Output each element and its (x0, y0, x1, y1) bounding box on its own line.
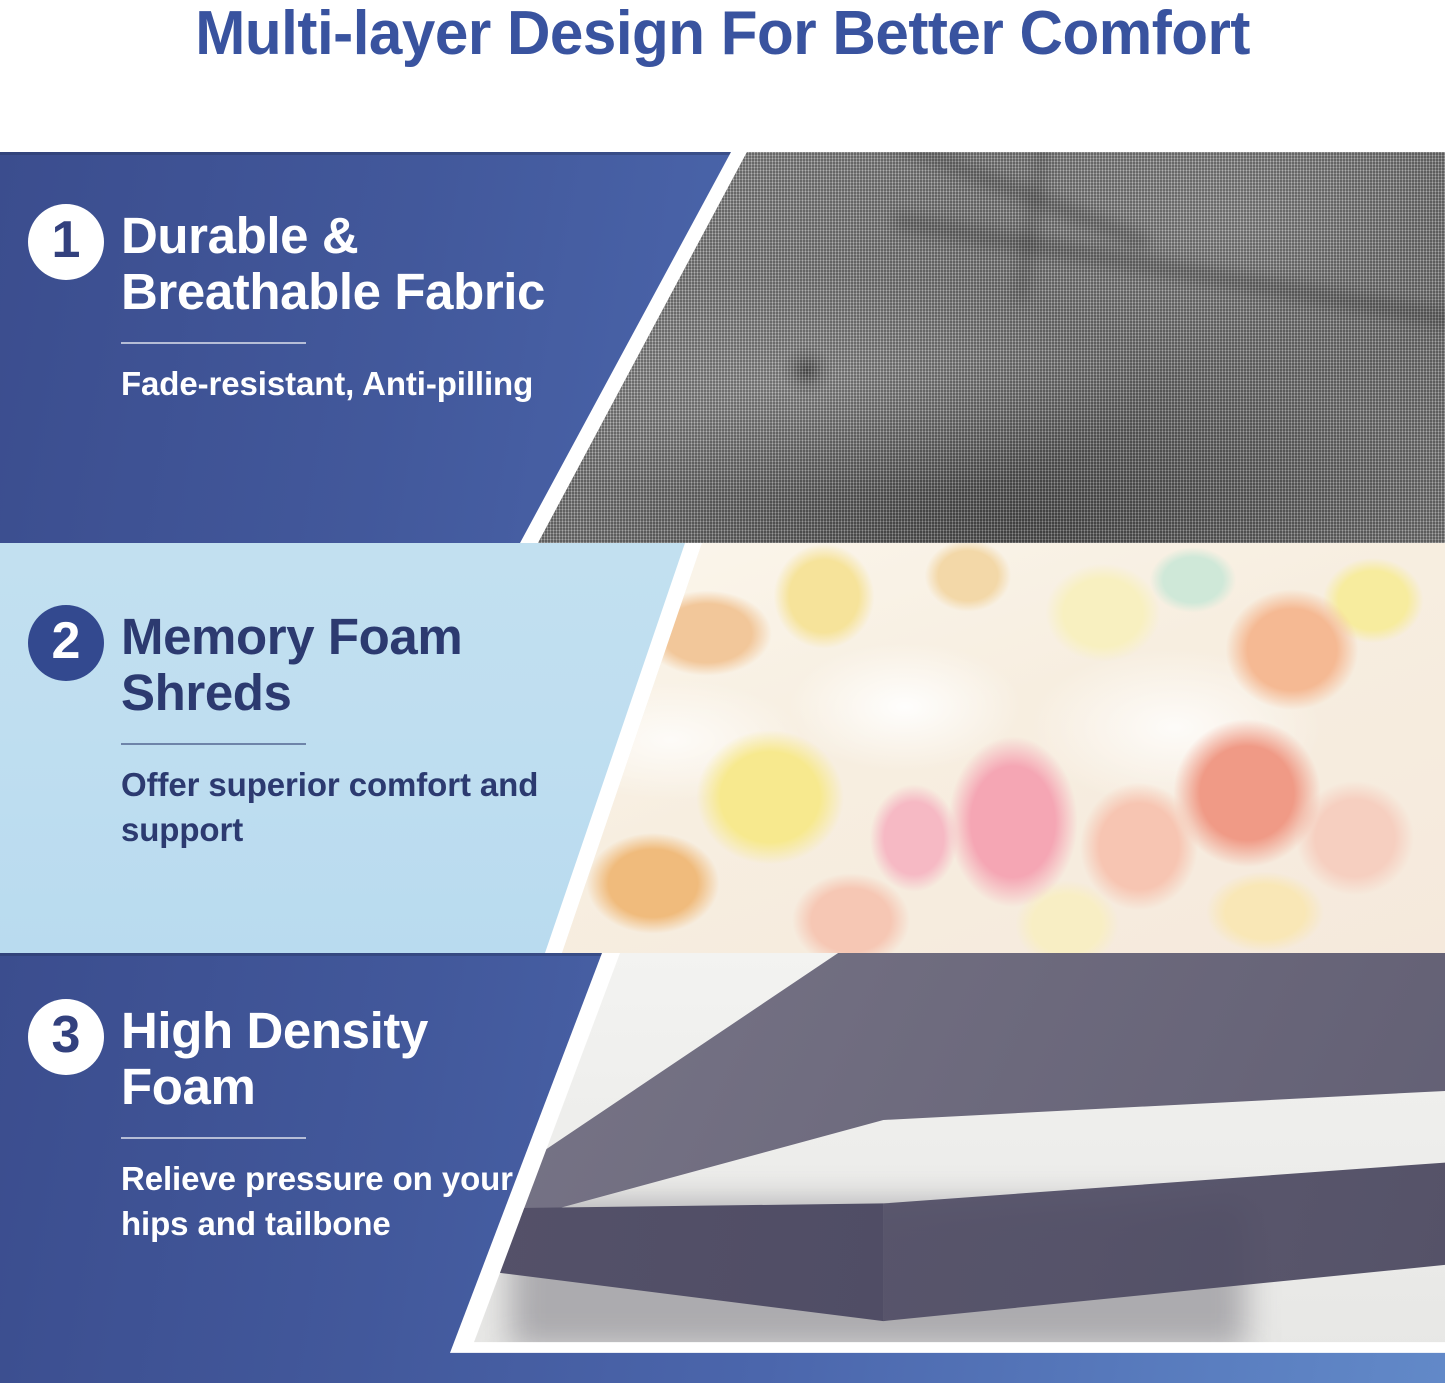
panel-3-heading: High Density Foam (121, 999, 528, 1115)
panel-2-number-badge: 2 (28, 605, 104, 681)
feature-panel-2: 2 Memory Foam Shreds Offer superior comf… (0, 543, 1445, 953)
panel-1-subtext: Fade-resistant, Anti-pilling (121, 362, 548, 407)
panel-2-heading: Memory Foam Shreds (121, 605, 568, 721)
title-bar: Multi-layer Design For Better Comfort (0, 0, 1445, 152)
panel-2-heading-row: 2 Memory Foam Shreds (28, 605, 568, 721)
panel-3-photo-frame (450, 953, 1445, 1383)
panel-1-text-block: 1 Durable & Breathable Fabric Fade-resis… (28, 204, 548, 407)
panel-1-heading-row: 1 Durable & Breathable Fabric (28, 204, 548, 320)
infographic-page: Multi-layer Design For Better Comfort 1 … (0, 0, 1445, 1383)
panel-2-subtext: Offer superior comfort and support (121, 763, 568, 852)
panel-3-heading-row: 3 High Density Foam (28, 999, 528, 1115)
gray-high-density-foam-block-photo (450, 953, 1445, 1383)
panel-3-number-badge: 3 (28, 999, 104, 1075)
panel-1-heading: Durable & Breathable Fabric (121, 204, 548, 320)
page-title: Multi-layer Design For Better Comfort (195, 0, 1250, 65)
panel-3-divider (121, 1137, 306, 1139)
panel-2-divider (121, 743, 306, 745)
panel-1-number-badge: 1 (28, 204, 104, 280)
feature-panel-3: 3 High Density Foam Relieve pressure on … (0, 953, 1445, 1383)
panel-3-text-block: 3 High Density Foam Relieve pressure on … (28, 999, 528, 1246)
feature-panel-1: 1 Durable & Breathable Fabric Fade-resis… (0, 152, 1445, 543)
panel-1-divider (121, 342, 306, 344)
panel-3-subtext: Relieve pressure on your hips and tailbo… (121, 1157, 528, 1246)
panel-2-text-block: 2 Memory Foam Shreds Offer superior comf… (28, 605, 568, 852)
